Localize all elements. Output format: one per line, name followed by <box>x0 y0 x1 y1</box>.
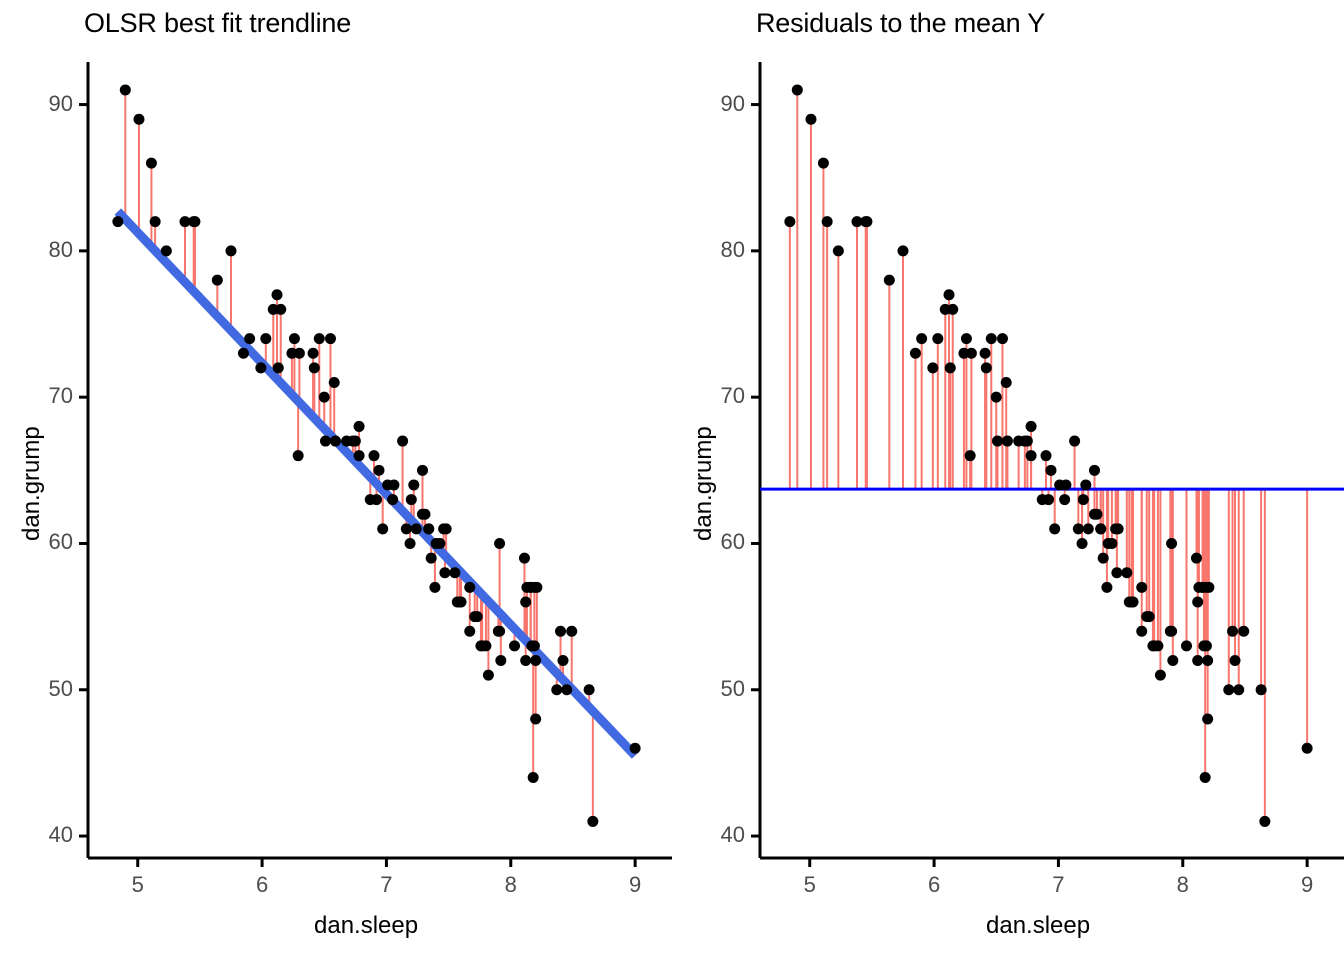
data-point <box>472 611 483 622</box>
data-point <box>1089 465 1100 476</box>
data-point <box>255 362 266 373</box>
y-tick-label: 50 <box>705 676 745 702</box>
data-point <box>1165 626 1176 637</box>
data-point <box>884 275 895 286</box>
data-point <box>1200 772 1211 783</box>
ols-trendline <box>118 212 635 756</box>
data-point <box>150 216 161 227</box>
data-point <box>1049 523 1060 534</box>
data-point <box>212 275 223 286</box>
data-point <box>1238 626 1249 637</box>
data-point <box>947 304 958 315</box>
data-point <box>387 494 398 505</box>
data-point <box>377 523 388 534</box>
data-point <box>784 216 795 227</box>
y-tick-label: 40 <box>705 822 745 848</box>
data-point <box>520 655 531 666</box>
data-point <box>1256 684 1267 695</box>
y-tick-label: 40 <box>33 822 73 848</box>
data-point <box>822 216 833 227</box>
data-point <box>1026 421 1037 432</box>
data-point <box>423 523 434 534</box>
data-point <box>1136 582 1147 593</box>
data-point <box>1001 377 1012 388</box>
data-point <box>388 479 399 490</box>
data-point <box>354 450 365 461</box>
data-point <box>1136 626 1147 637</box>
data-point <box>411 523 422 534</box>
data-point <box>1192 596 1203 607</box>
data-point <box>294 348 305 359</box>
data-point <box>528 772 539 783</box>
data-point <box>551 684 562 695</box>
data-point <box>1167 655 1178 666</box>
data-point <box>1073 523 1084 534</box>
data-point <box>373 465 384 476</box>
x-tick-label: 9 <box>1282 872 1332 898</box>
data-point <box>1022 436 1033 447</box>
data-point <box>1078 494 1089 505</box>
data-point <box>434 538 445 549</box>
data-point <box>371 494 382 505</box>
x-tick-label: 7 <box>1033 872 1083 898</box>
data-point <box>401 523 412 534</box>
data-point <box>509 640 520 651</box>
data-point <box>1198 640 1209 651</box>
plot-canvas-right <box>672 0 1344 960</box>
data-point <box>1230 655 1241 666</box>
data-point <box>494 538 505 549</box>
panel-olsr-trendline: OLSR best fit trendline dan.grump dan.sl… <box>0 0 672 960</box>
data-point <box>161 245 172 256</box>
data-point <box>1302 743 1313 754</box>
data-point <box>584 684 595 695</box>
x-tick-label: 9 <box>610 872 660 898</box>
data-point <box>1095 523 1106 534</box>
data-point <box>397 436 408 447</box>
x-tick-label: 5 <box>113 872 163 898</box>
data-point <box>587 816 598 827</box>
data-point <box>308 348 319 359</box>
data-point <box>1202 714 1213 725</box>
x-tick-label: 8 <box>486 872 536 898</box>
data-points-group <box>112 84 640 826</box>
y-tick-label: 70 <box>33 383 73 409</box>
data-point <box>1045 465 1056 476</box>
data-point <box>244 333 255 344</box>
data-point <box>272 289 283 300</box>
data-point <box>1121 567 1132 578</box>
x-tick-label: 6 <box>909 872 959 898</box>
data-point <box>275 304 286 315</box>
x-tick-label: 7 <box>361 872 411 898</box>
data-point <box>112 216 123 227</box>
data-point <box>991 392 1002 403</box>
data-point <box>792 84 803 95</box>
data-point <box>1083 523 1094 534</box>
data-point <box>558 655 569 666</box>
data-point <box>519 553 530 564</box>
data-point <box>1002 436 1013 447</box>
data-point <box>916 333 927 344</box>
data-point <box>1227 626 1238 637</box>
y-tick-label: 80 <box>705 237 745 263</box>
x-axis-title-right: dan.sleep <box>986 912 1090 940</box>
data-point <box>405 538 416 549</box>
x-tick-label: 8 <box>1158 872 1208 898</box>
data-point <box>530 714 541 725</box>
x-axis-title-left: dan.sleep <box>314 912 418 940</box>
data-point <box>526 640 537 651</box>
data-point <box>289 333 300 344</box>
data-point <box>449 567 460 578</box>
data-point <box>1077 538 1088 549</box>
figure-root: OLSR best fit trendline dan.grump dan.sl… <box>0 0 1344 960</box>
data-point <box>1089 509 1100 520</box>
data-point <box>561 684 572 695</box>
data-point <box>477 640 488 651</box>
data-point <box>1197 582 1208 593</box>
data-point <box>945 362 956 373</box>
y-axis-title-left: dan.grump <box>18 426 46 541</box>
data-point <box>986 333 997 344</box>
data-point <box>188 216 199 227</box>
data-point <box>1124 596 1135 607</box>
data-point <box>320 436 331 447</box>
data-point <box>426 553 437 564</box>
data-point <box>927 362 938 373</box>
panel-title-right: Residuals to the mean Y <box>756 8 1045 39</box>
data-point <box>369 450 380 461</box>
data-point <box>981 362 992 373</box>
x-tick-label: 6 <box>237 872 287 898</box>
y-tick-label: 70 <box>705 383 745 409</box>
data-point <box>1098 553 1109 564</box>
data-point <box>1101 582 1112 593</box>
data-point <box>566 626 577 637</box>
data-point <box>1149 640 1160 651</box>
data-point <box>464 582 475 593</box>
data-point <box>997 333 1008 344</box>
data-point <box>1155 670 1166 681</box>
data-point <box>525 582 536 593</box>
data-point <box>417 465 428 476</box>
data-point <box>818 158 829 169</box>
data-point <box>329 377 340 388</box>
data-point <box>910 348 921 359</box>
data-point <box>1060 479 1071 490</box>
data-point <box>1069 436 1080 447</box>
data-point <box>520 596 531 607</box>
data-point <box>1192 655 1203 666</box>
data-point <box>325 333 336 344</box>
data-point <box>406 494 417 505</box>
data-point <box>293 450 304 461</box>
data-point <box>1181 640 1192 651</box>
x-tick-label: 5 <box>785 872 835 898</box>
data-point <box>1202 655 1213 666</box>
data-point <box>417 509 428 520</box>
data-point <box>833 245 844 256</box>
data-point <box>966 348 977 359</box>
data-point <box>452 596 463 607</box>
data-point <box>120 84 131 95</box>
y-tick-label: 60 <box>33 529 73 555</box>
data-point <box>260 333 271 344</box>
data-point <box>1144 611 1155 622</box>
data-point <box>1059 494 1070 505</box>
y-tick-label: 90 <box>705 91 745 117</box>
y-tick-label: 50 <box>33 676 73 702</box>
data-point <box>992 436 1003 447</box>
y-tick-label: 90 <box>33 91 73 117</box>
y-tick-label: 60 <box>705 529 745 555</box>
data-point <box>1259 816 1270 827</box>
data-point <box>354 421 365 432</box>
data-point <box>1106 538 1117 549</box>
data-point <box>309 362 320 373</box>
data-point <box>441 523 452 534</box>
data-point <box>530 655 541 666</box>
data-point <box>1191 553 1202 564</box>
data-point <box>483 670 494 681</box>
data-point <box>805 114 816 125</box>
data-point <box>961 333 972 344</box>
data-point <box>429 582 440 593</box>
data-point <box>273 362 284 373</box>
data-point <box>330 436 341 447</box>
data-point <box>555 626 566 637</box>
data-point <box>1113 523 1124 534</box>
plot-canvas-left <box>0 0 672 960</box>
data-point <box>146 158 157 169</box>
panel-residuals-mean: Residuals to the mean Y dan.grump dan.sl… <box>672 0 1344 960</box>
data-points-group <box>784 84 1312 826</box>
data-point <box>630 743 641 754</box>
data-point <box>980 348 991 359</box>
data-point <box>944 289 955 300</box>
data-point <box>1080 479 1091 490</box>
data-point <box>238 348 249 359</box>
data-point <box>464 626 475 637</box>
data-point <box>493 626 504 637</box>
y-axis-title-right: dan.grump <box>690 426 718 541</box>
data-point <box>1041 450 1052 461</box>
data-point <box>1223 684 1234 695</box>
data-point <box>439 567 450 578</box>
data-point <box>860 216 871 227</box>
data-point <box>350 436 361 447</box>
data-point <box>1166 538 1177 549</box>
y-tick-label: 80 <box>33 237 73 263</box>
data-point <box>408 479 419 490</box>
panel-title-left: OLSR best fit trendline <box>84 8 351 39</box>
data-point <box>314 333 325 344</box>
data-point <box>965 450 976 461</box>
data-point <box>226 245 237 256</box>
data-point <box>133 114 144 125</box>
data-point <box>319 392 330 403</box>
data-point <box>1233 684 1244 695</box>
data-point <box>495 655 506 666</box>
data-point <box>932 333 943 344</box>
data-point <box>1111 567 1122 578</box>
data-point <box>1026 450 1037 461</box>
data-point <box>898 245 909 256</box>
data-point <box>1043 494 1054 505</box>
